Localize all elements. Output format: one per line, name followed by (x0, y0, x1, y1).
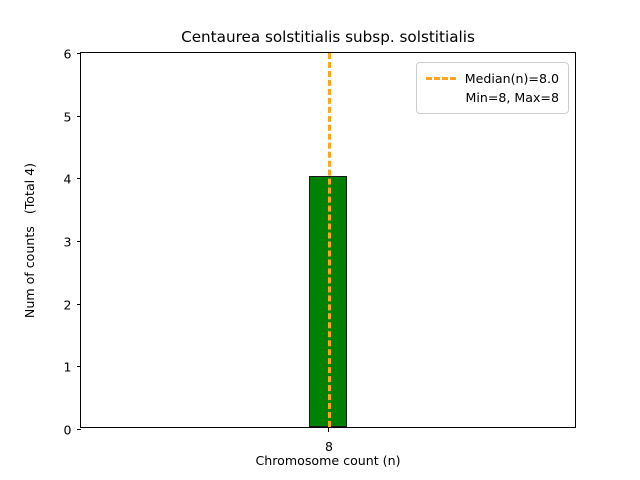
y-tick-label-2: 2 (64, 297, 72, 312)
chart-title: Centaurea solstitialis subsp. solstitial… (80, 28, 576, 46)
plot-area: 0 1 2 3 4 5 6 8 Medi (80, 52, 576, 428)
median-line (328, 53, 331, 427)
legend-label-median: Median(n)=8.0 (465, 71, 559, 86)
y-tick-label-6: 6 (64, 47, 72, 62)
x-tick-label-8: 8 (325, 439, 333, 454)
y-tick-4: 4 (77, 178, 82, 179)
x-axis-label: Chromosome count (n) (80, 453, 576, 468)
y-axis-label-text: Num of counts (Total 4) (23, 162, 38, 317)
y-tick-label-4: 4 (64, 172, 72, 187)
legend-entry-minmax: Min=8, Max=8 (465, 88, 559, 107)
y-tick-3: 3 (77, 241, 82, 242)
chart-figure: Centaurea solstitialis subsp. solstitial… (0, 0, 640, 480)
legend-label-minmax: Min=8, Max=8 (465, 90, 559, 105)
y-tick-1: 1 (77, 366, 82, 367)
y-tick-0: 0 (77, 429, 82, 430)
y-axis-label: Num of counts (Total 4) (21, 52, 39, 428)
y-tick-label-5: 5 (64, 109, 72, 124)
y-tick-label-0: 0 (64, 423, 72, 438)
chart-legend: Median(n)=8.0 Min=8, Max=8 (416, 62, 569, 114)
y-tick-6: 6 (77, 53, 82, 54)
x-tick-8: 8 (328, 427, 329, 432)
dashed-line-icon (426, 77, 456, 80)
y-tick-label-1: 1 (64, 360, 72, 375)
y-tick-5: 5 (77, 116, 82, 117)
y-tick-2: 2 (77, 304, 82, 305)
legend-entry-median: Median(n)=8.0 (426, 69, 559, 88)
y-tick-label-3: 3 (64, 235, 72, 250)
